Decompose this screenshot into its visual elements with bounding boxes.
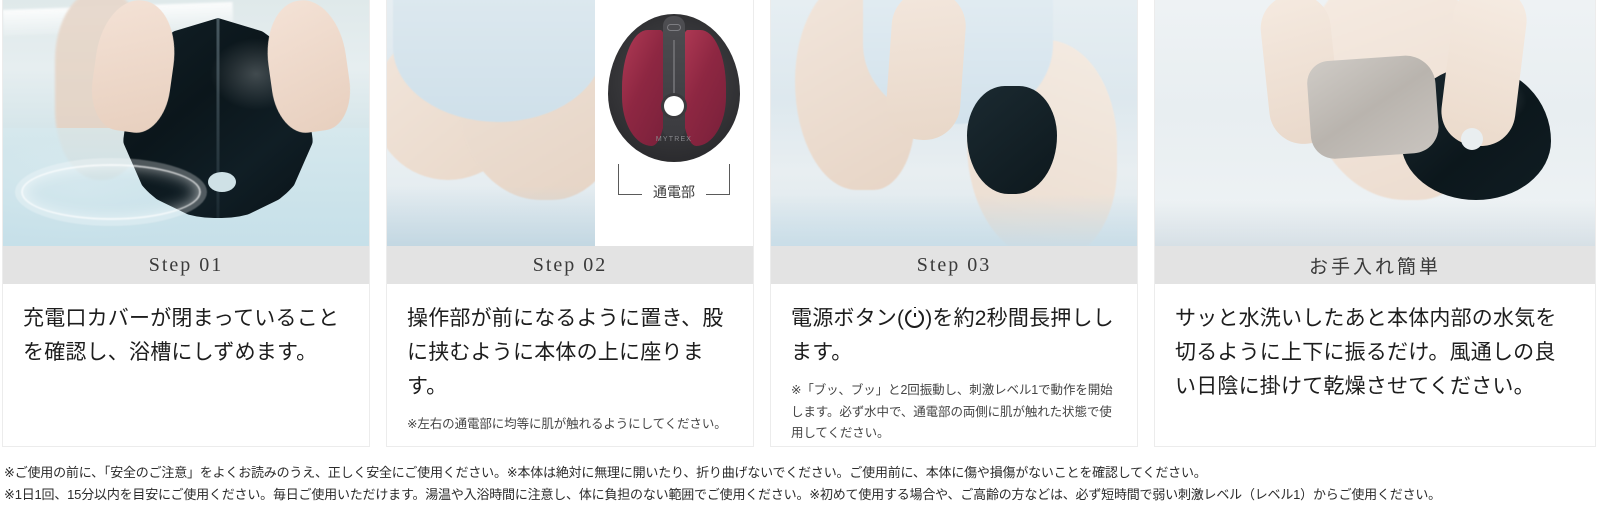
step-02-lead: 操作部が前になるように置き、股に挟むように本体の上に座ります。 [407, 302, 733, 404]
step-03-note: ※「ブッ、ブッ」と2回振動し、刺激レベル1で動作を開始します。必ず水中で、通電部… [791, 380, 1117, 445]
step-01-body: 充電口カバーが閉まっていることを確認し、浴槽にしずめます。 [3, 284, 369, 446]
product-wing-left [622, 30, 668, 146]
device-center-hole [208, 172, 236, 192]
step-02-note: ※左右の通電部に均等に肌が触れるようにしてください。 [407, 414, 733, 436]
step-01-title: Step 01 [149, 254, 224, 277]
callout-bracket-right [729, 164, 730, 194]
care-lead: サッと水洗いしたあと本体内部の水気を切るように上下に振るだけ。風通しの良い日陰に… [1175, 302, 1575, 404]
step-03-photo [771, 0, 1137, 246]
step-card-03: Step 03 電源ボタン()を約2秒間長押しします。 ※「ブッ、ブッ」と2回振… [770, 0, 1138, 447]
power-symbol-icon [905, 309, 924, 328]
care-title: お手入れ簡単 [1309, 252, 1441, 279]
steps-row: Step 01 充電口カバーが閉まっていることを確認し、浴槽にしずめます。 [0, 0, 1622, 448]
step-card-01: Step 01 充電口カバーが閉まっていることを確認し、浴槽にしずめます。 [2, 0, 370, 447]
footer-disclaimer: ※ご使用の前に、「安全のご注意」をよくお読みのうえ、正しく安全にご使用ください。… [0, 448, 1622, 507]
footer-line-1: ※ご使用の前に、「安全のご注意」をよくお読みのうえ、正しく安全にご使用ください。… [4, 462, 1618, 484]
device-dark [967, 86, 1057, 194]
footer-line-2: ※1日1回、15分以内を目安にご使用ください。毎日ご使用いただけます。湯温や入浴… [4, 484, 1618, 506]
step-02-product-inset: MYTREX 通電部 [595, 0, 753, 246]
step-01-lead: 充電口カバーが閉まっていることを確認し、浴槽にしずめます。 [23, 302, 349, 370]
step-01-photo [3, 0, 369, 246]
product-top-button [667, 24, 681, 31]
step-03-band: Step 03 [771, 246, 1137, 284]
step-03-title: Step 03 [917, 254, 992, 277]
photo-shadow [1155, 200, 1595, 246]
care-band: お手入れ簡単 [1155, 246, 1595, 284]
step-card-02: MYTREX 通電部 Step 02 操作部が前になるように置き、股に挟むように… [386, 0, 754, 447]
callout-bar-right [706, 194, 730, 195]
product-illustration: MYTREX [608, 14, 740, 162]
step-02-band: Step 02 [387, 246, 753, 284]
product-center-hole [664, 96, 684, 116]
step-02-body: 操作部が前になるように置き、股に挟むように本体の上に座ります。 ※左右の通電部に… [387, 284, 753, 447]
callout-bracket-left [618, 164, 619, 194]
step-02-title: Step 02 [533, 254, 608, 277]
step-02-photo-left [387, 0, 595, 246]
conductive-part-callout: 通電部 [608, 164, 740, 218]
step-03-lead-before: 電源ボタン( [791, 307, 904, 330]
product-brand-label: MYTREX [656, 136, 692, 143]
care-body: サッと水洗いしたあと本体内部の水気を切るように上下に振るだけ。風通しの良い日陰に… [1155, 284, 1595, 446]
step-03-body: 電源ボタン()を約2秒間長押しします。 ※「ブッ、ブッ」と2回振動し、刺激レベル… [771, 284, 1137, 447]
device-center-hole [1461, 128, 1483, 150]
care-card: お手入れ簡単 サッと水洗いしたあと本体内部の水気を切るように上下に振るだけ。風通… [1154, 0, 1596, 447]
step-03-lead: 電源ボタン()を約2秒間長押しします。 [791, 302, 1117, 370]
towel-shape [1306, 54, 1441, 161]
callout-label: 通電部 [648, 182, 700, 202]
callout-bar-left [618, 194, 642, 195]
water-surface [771, 194, 1137, 246]
step-02-photo: MYTREX 通電部 [387, 0, 753, 246]
water-ripple [21, 164, 201, 220]
instruction-board: Step 01 充電口カバーが閉まっていることを確認し、浴槽にしずめます。 [0, 0, 1622, 527]
arm-shape [884, 0, 968, 142]
step-01-band: Step 01 [3, 246, 369, 284]
care-photo [1155, 0, 1595, 246]
photo-shadow [387, 186, 595, 246]
